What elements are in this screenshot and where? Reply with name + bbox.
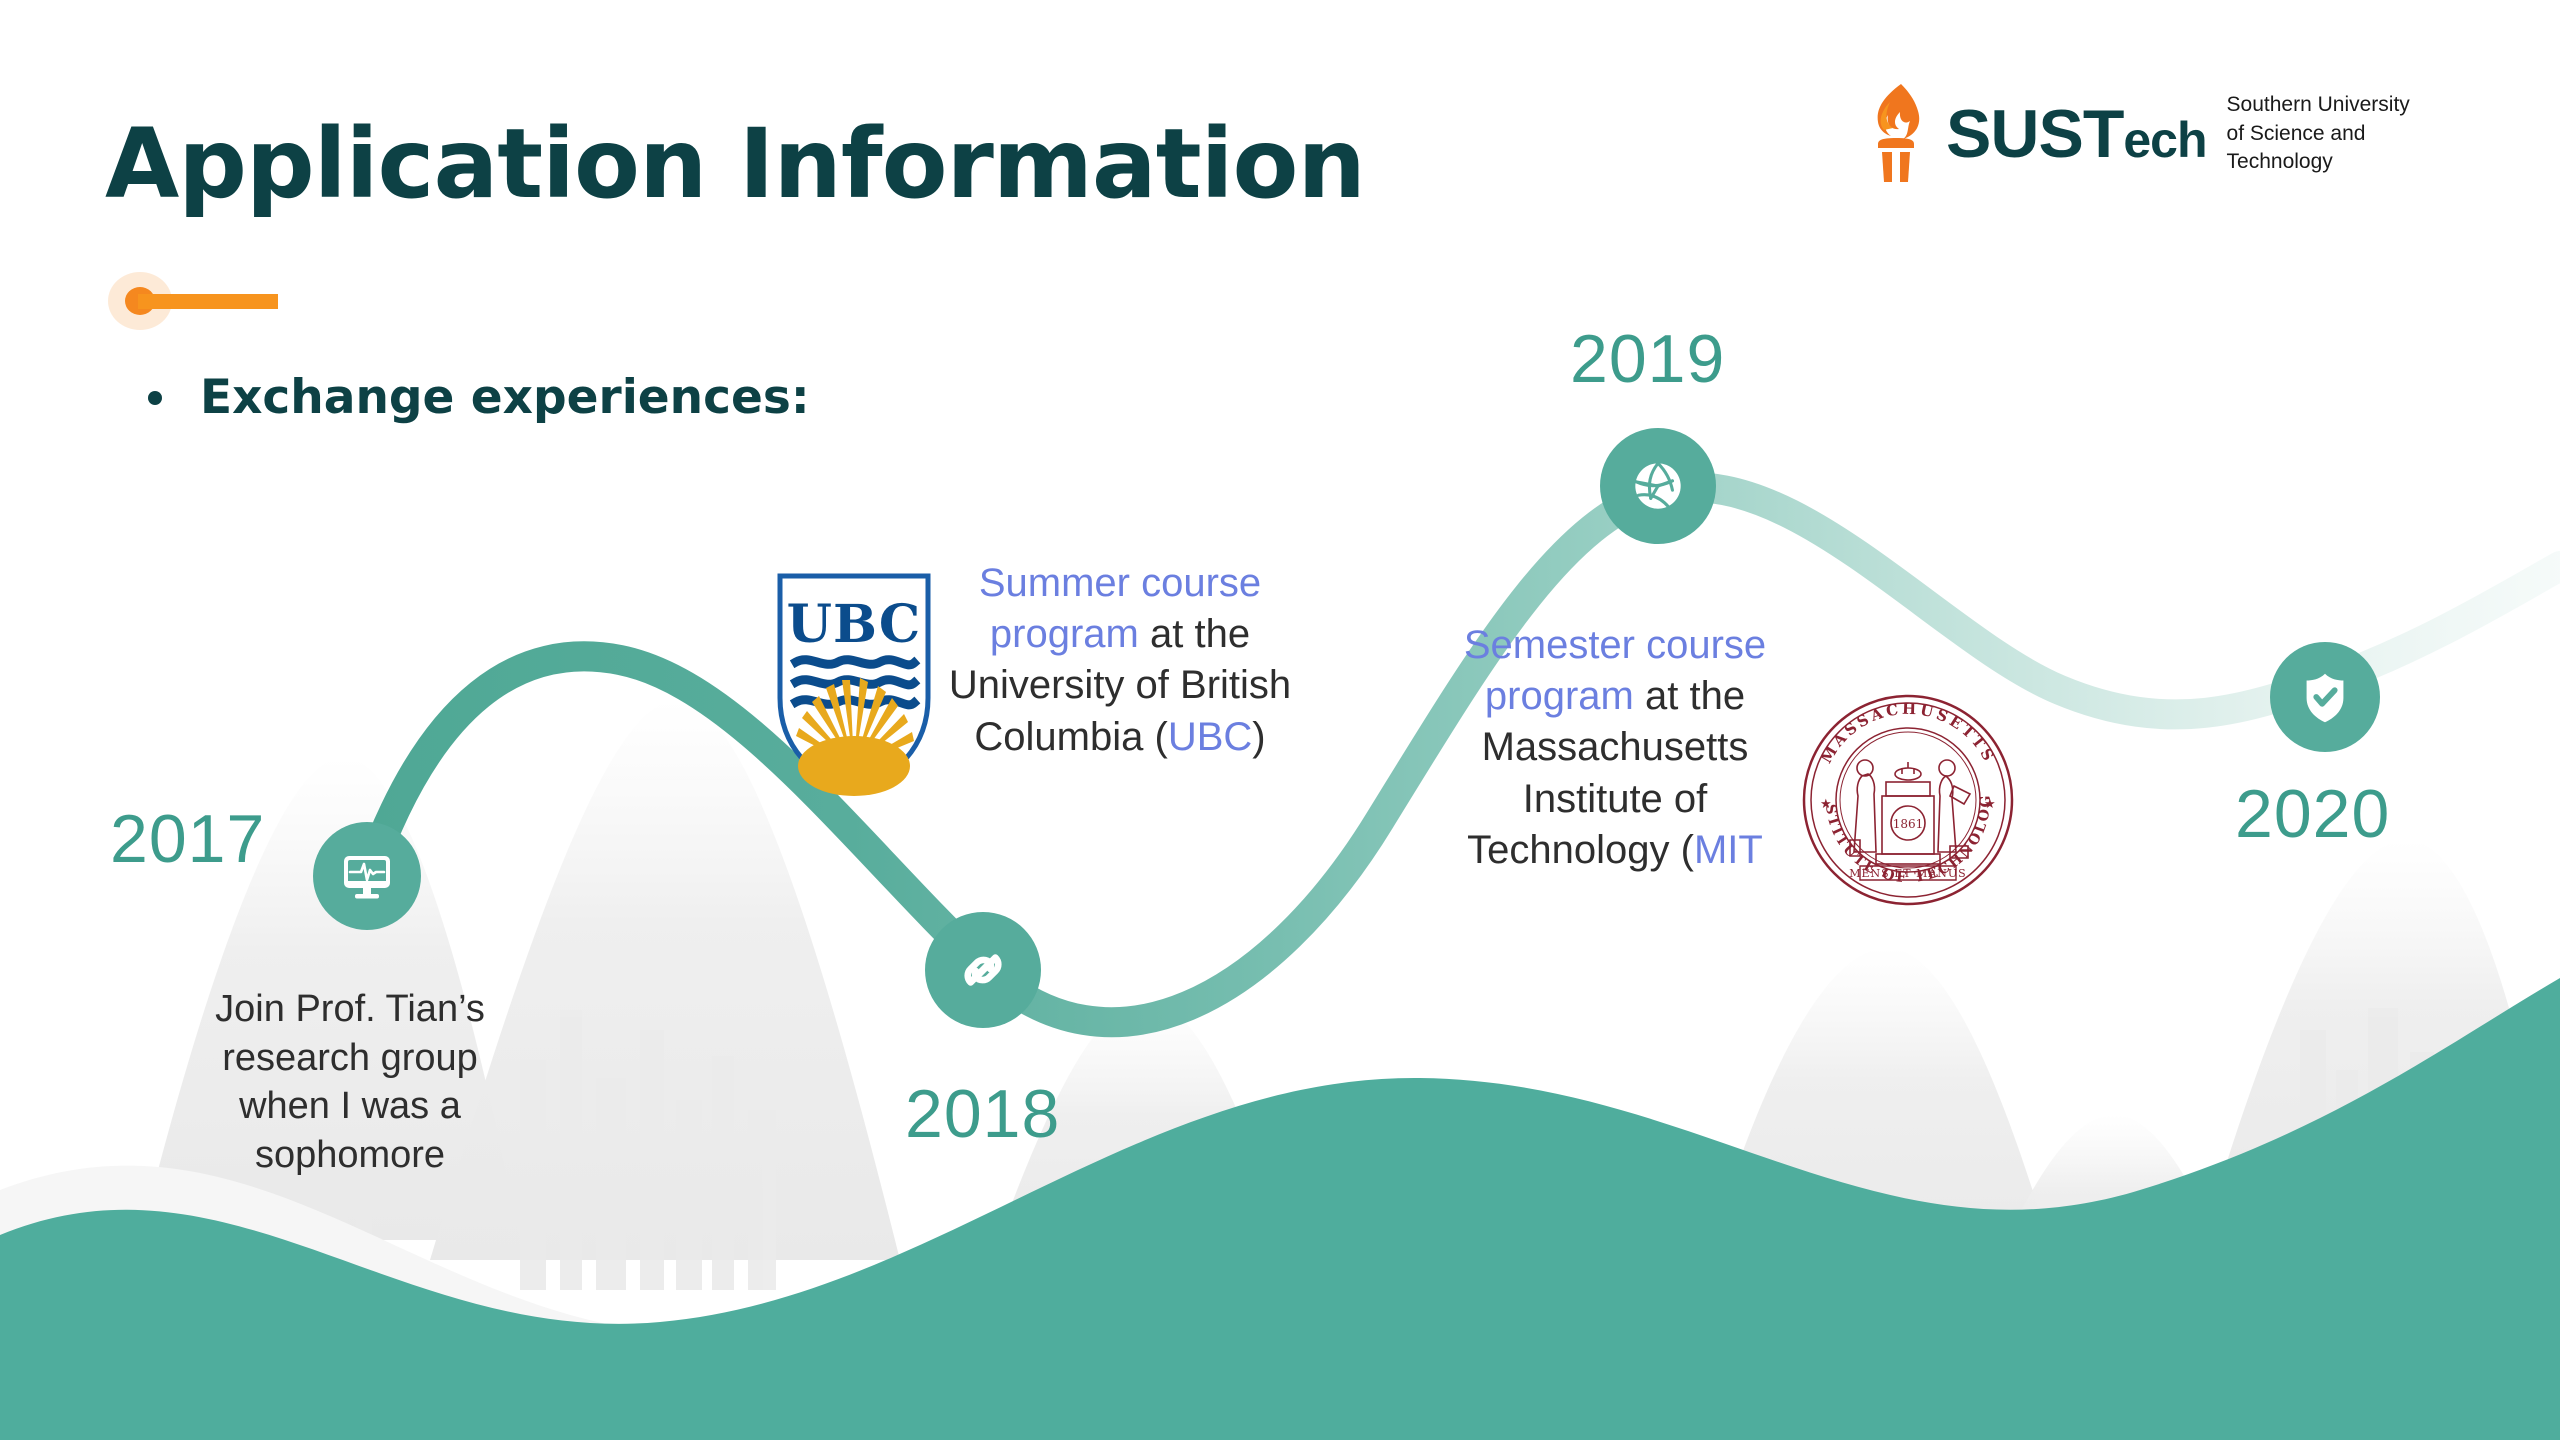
mit-seal-year: 1861 [1893,817,1924,831]
timeline-node-2018[interactable] [925,912,1041,1028]
mit-seal-star-right: ★ [1984,797,1996,812]
year-label-2017: 2017 [110,800,265,878]
orange-accent-rule [108,272,398,330]
sustech-tagline-line1: Southern University [2227,91,2410,119]
mit-seal-star-left: ★ [1820,797,1832,812]
bullet-dot-icon [148,391,162,405]
desc-2017-text: Join Prof. Tian’s research group when I … [215,988,485,1176]
sustech-tagline-line3: Technology [2227,148,2410,176]
torch-icon [1860,82,1932,186]
link-chain-icon [950,937,1016,1003]
sustech-wordmark-suffix: ech [2123,112,2206,168]
timeline-description-2017: Join Prof. Tian’s research group when I … [180,985,520,1180]
mit-seal-outer-text: MASSACHUSETTS [1817,700,1999,767]
slide-canvas: Application Information Exchange experie… [0,0,2560,1440]
timeline-node-2017[interactable] [313,822,421,930]
desc-2018-part-3: ) [1252,715,1265,759]
mit-seal-logo: MASSACHUSETTS INSTITUTE OF TECHNOLOGY ★ … [1798,690,2018,910]
shield-check-icon [2294,666,2356,728]
timeline-description-2018: Summer course program at the University … [930,558,1310,763]
year-label-2019: 2019 [1570,320,1725,398]
mit-seal-motto: MENS ET MANUS [1849,867,1966,880]
year-label-2018: 2018 [905,1075,1060,1153]
bullet-row: Exchange experiences: [148,370,810,425]
desc-2018-part-2: UBC [1168,715,1252,759]
monitor-heartbeat-icon [335,844,399,908]
timeline-node-2019[interactable] [1600,428,1716,544]
year-label-2020: 2020 [2235,775,2390,853]
timeline-node-2020[interactable] [2270,642,2380,752]
ubc-shield-logo: UBC [770,570,938,798]
sustech-wordmark: SUSTech [1946,100,2207,168]
timeline-description-2019: Semester course program at the Massachus… [1430,620,1800,876]
globe-icon [1625,453,1691,519]
sustech-tagline: Southern University of Science and Techn… [2227,91,2410,176]
sustech-logo: SUSTech Southern University of Science a… [1860,82,2410,186]
ubc-logo-letters: UBC [787,594,922,655]
bullet-label: Exchange experiences: [200,370,810,425]
sustech-wordmark-main: SUST [1946,96,2123,172]
sustech-tagline-line2: of Science and [2227,120,2410,148]
page-title: Application Information [105,108,1365,220]
desc-2019-part-2: MIT [1694,828,1763,872]
